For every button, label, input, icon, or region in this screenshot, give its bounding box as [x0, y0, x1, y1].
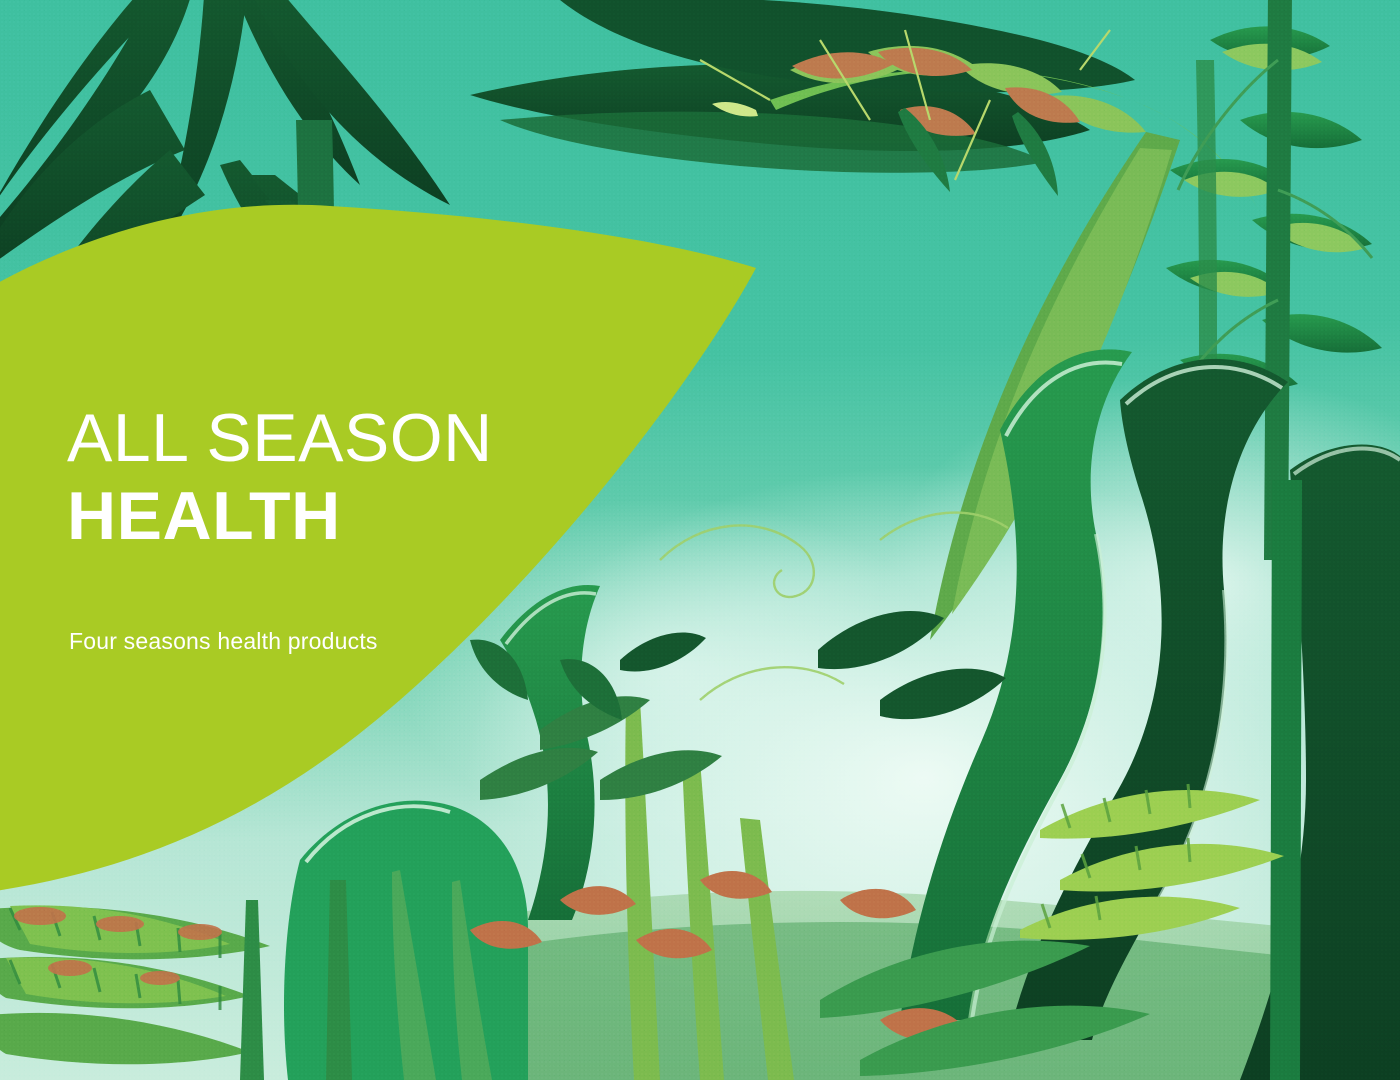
poster-canvas: ALL SEASON HEALTH Four seasons health pr…: [0, 0, 1400, 1080]
headline-block: ALL SEASON HEALTH Four seasons health pr…: [67, 404, 687, 655]
headline-line-2: HEALTH: [67, 482, 687, 550]
headline-line-1: ALL SEASON: [67, 404, 687, 472]
subtitle: Four seasons health products: [69, 628, 687, 655]
